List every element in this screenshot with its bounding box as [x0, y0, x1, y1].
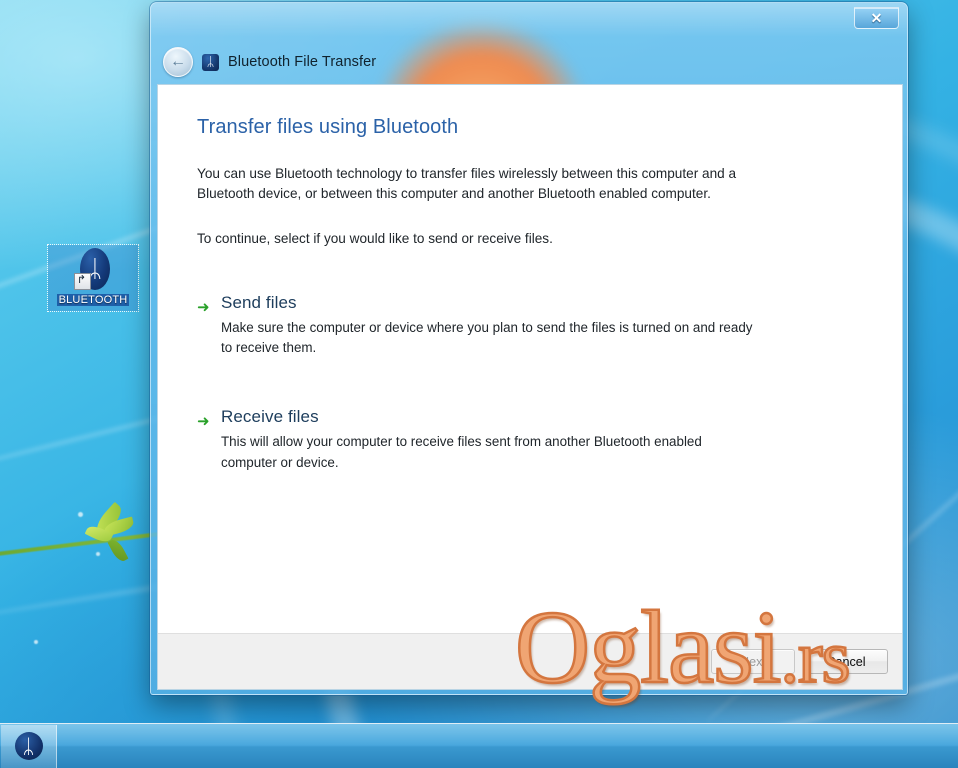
desktop-icon-label: BLUETOOTH — [57, 294, 130, 306]
option-send-files-description: Make sure the computer or device where y… — [221, 318, 761, 358]
taskbar: ᛦ — [0, 723, 958, 768]
cancel-button[interactable]: Cancel — [804, 649, 888, 674]
bluetooth-title-icon: ᛦ — [202, 54, 219, 71]
window-footer: Next Cancel — [158, 633, 902, 689]
taskbar-button-bluetooth[interactable]: ᛦ — [1, 725, 57, 768]
instruction-paragraph: To continue, select if you would like to… — [197, 231, 862, 246]
green-arrow-icon: ➜ — [197, 407, 221, 472]
option-send-files-body: Send files Make sure the computer or dev… — [221, 293, 862, 358]
option-send-files[interactable]: ➜ Send files Make sure the computer or d… — [197, 293, 862, 358]
wallpaper-speck — [78, 512, 83, 517]
wallpaper-speck — [96, 552, 100, 556]
shortcut-arrow-glyph: ↱ — [77, 275, 86, 286]
option-receive-files-description: This will allow your computer to receive… — [221, 432, 761, 472]
desktop-icon-bluetooth[interactable]: ᛦ ↱ BLUETOOTH — [48, 245, 138, 311]
option-receive-files[interactable]: ➜ Receive files This will allow your com… — [197, 407, 862, 472]
wallpaper-plant-stem — [0, 532, 160, 558]
bluetooth-icon: ᛦ ↱ — [74, 248, 112, 292]
wizard-content: Transfer files using Bluetooth You can u… — [158, 85, 902, 633]
intro-paragraph: You can use Bluetooth technology to tran… — [197, 164, 797, 204]
wallpaper-speck — [34, 640, 38, 644]
page-title: Transfer files using Bluetooth — [197, 116, 862, 139]
window-content-pane: Transfer files using Bluetooth You can u… — [157, 84, 903, 690]
back-icon[interactable]: ← — [163, 47, 193, 77]
bluetooth-file-transfer-window: ✕ ← ᛦ Bluetooth File Transfer Transfer f… — [150, 2, 908, 695]
window-titlebar: ✕ ← ᛦ Bluetooth File Transfer — [151, 3, 907, 87]
option-send-files-title[interactable]: Send files — [221, 293, 862, 313]
shortcut-overlay-icon: ↱ — [74, 273, 91, 290]
green-arrow-icon: ➜ — [197, 293, 221, 358]
option-receive-files-title[interactable]: Receive files — [221, 407, 862, 427]
window-title: Bluetooth File Transfer — [228, 54, 376, 70]
bluetooth-icon: ᛦ — [15, 732, 43, 760]
window-nav-area: ← ᛦ Bluetooth File Transfer — [163, 47, 376, 77]
option-receive-files-body: Receive files This will allow your compu… — [221, 407, 862, 472]
wallpaper-leaf — [108, 537, 129, 563]
next-button[interactable]: Next — [711, 649, 795, 674]
close-icon[interactable]: ✕ — [854, 7, 899, 29]
